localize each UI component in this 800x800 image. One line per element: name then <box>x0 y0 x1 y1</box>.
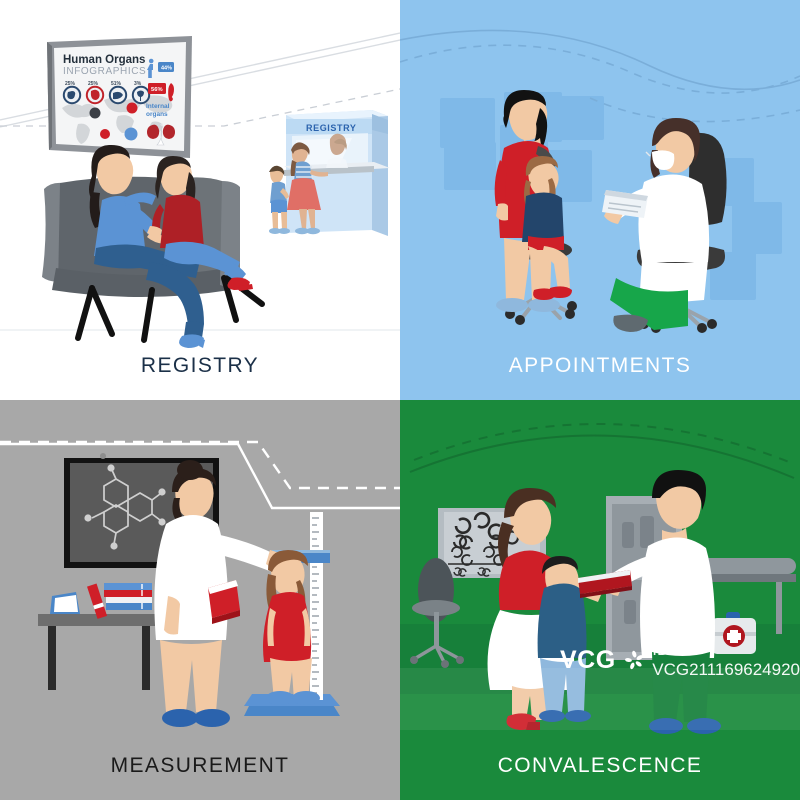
panel-appointments: APPOINTMENTS <box>400 0 800 400</box>
panel-caption-convalescence: CONVALESCENCE <box>400 754 800 778</box>
study-table <box>38 583 166 690</box>
desk-sign-text: REGISTRY <box>306 123 356 133</box>
svg-text:44%: 44% <box>161 66 172 72</box>
papers-icon <box>50 592 80 614</box>
poster-subtitle: INFOGRAPHICS <box>63 66 146 77</box>
book-stack <box>87 583 152 619</box>
registry-scene: Human Organs INFOGRAPHICS 25% 25% <box>0 0 400 400</box>
panel-measurement: MEASUREMENT <box>0 400 400 800</box>
appointments-scene <box>400 0 800 400</box>
organs-label-line1: Internal <box>146 103 170 110</box>
panel-caption-appointments: APPOINTMENTS <box>400 354 800 378</box>
poster-title: Human Organs <box>63 54 145 66</box>
panel-caption-measurement: MEASUREMENT <box>0 754 400 778</box>
infographic-poster: Human Organs INFOGRAPHICS 25% 25% <box>47 36 192 158</box>
panel-caption-registry: REGISTRY <box>0 354 400 378</box>
concept-icons-board: Human Organs INFOGRAPHICS 25% 25% <box>0 0 800 800</box>
decor-arcs <box>410 424 794 478</box>
doctor-figure <box>602 118 709 332</box>
measurement-scene <box>0 400 400 800</box>
svg-text:56%: 56% <box>151 87 163 93</box>
organs-label-line2: organs <box>146 111 168 118</box>
panel-registry: Human Organs INFOGRAPHICS 25% 25% <box>0 0 400 400</box>
panel-convalescence: CONVALESCENCE <box>400 400 800 800</box>
convalescence-scene <box>400 400 800 800</box>
first-aid-kit <box>712 612 756 654</box>
